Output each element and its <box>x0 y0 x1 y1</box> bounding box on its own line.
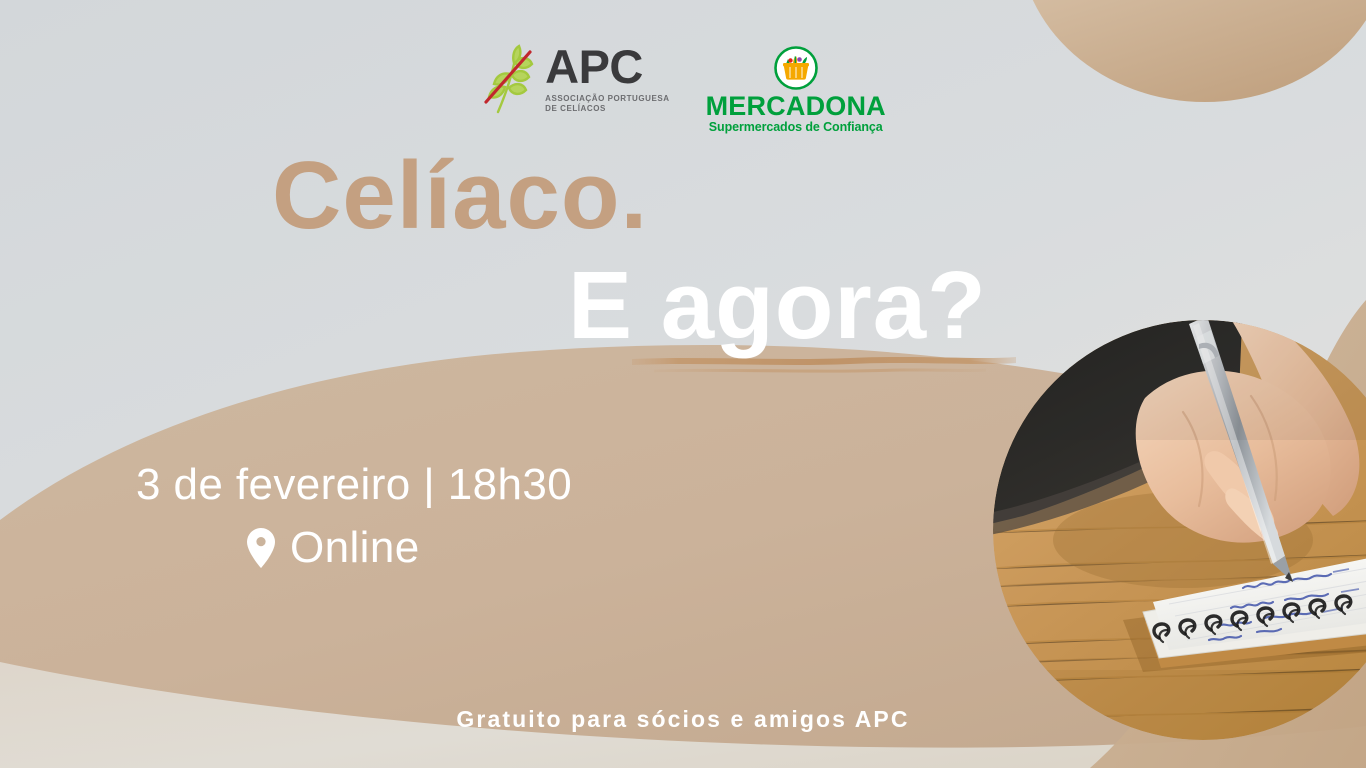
apc-wordmark-group: APC Associação Portuguesa de Celíacos <box>545 45 669 114</box>
event-poster: APC Associação Portuguesa de Celíacos <box>0 0 1366 768</box>
footer-note: Gratuito para sócios e amigos APC <box>0 706 1366 733</box>
map-pin-icon <box>246 527 276 569</box>
event-date-time: 3 de fevereiro | 18h30 <box>136 460 572 511</box>
gluten-free-wheat-icon <box>480 44 536 116</box>
mercadona-tagline: Supermercados de Confiança <box>709 121 883 134</box>
event-location-row: Online <box>246 523 572 574</box>
hand-writing-notebook-photo <box>993 320 1366 740</box>
apc-subtitle: Associação Portuguesa de Celíacos <box>545 94 669 114</box>
mercadona-logo: MERCADONA Supermercados de Confiança <box>706 44 886 134</box>
photo-illustration-svg <box>993 320 1366 740</box>
shopping-basket-icon <box>774 46 818 90</box>
event-details: 3 de fevereiro | 18h30 Online <box>136 460 572 573</box>
headline-line-1: Celíaco. <box>272 148 1050 244</box>
apc-wordmark: APC <box>545 45 669 90</box>
headline-line-2: E agora? <box>568 258 1050 354</box>
event-location: Online <box>290 523 420 574</box>
mercadona-wordmark: MERCADONA <box>706 93 886 120</box>
headline-line-2-wrap: E agora? <box>568 258 1050 354</box>
headline-block: Celíaco. <box>0 148 1050 354</box>
logo-row: APC Associação Portuguesa de Celíacos <box>0 44 1366 134</box>
apc-logo: APC Associação Portuguesa de Celíacos <box>480 44 669 116</box>
